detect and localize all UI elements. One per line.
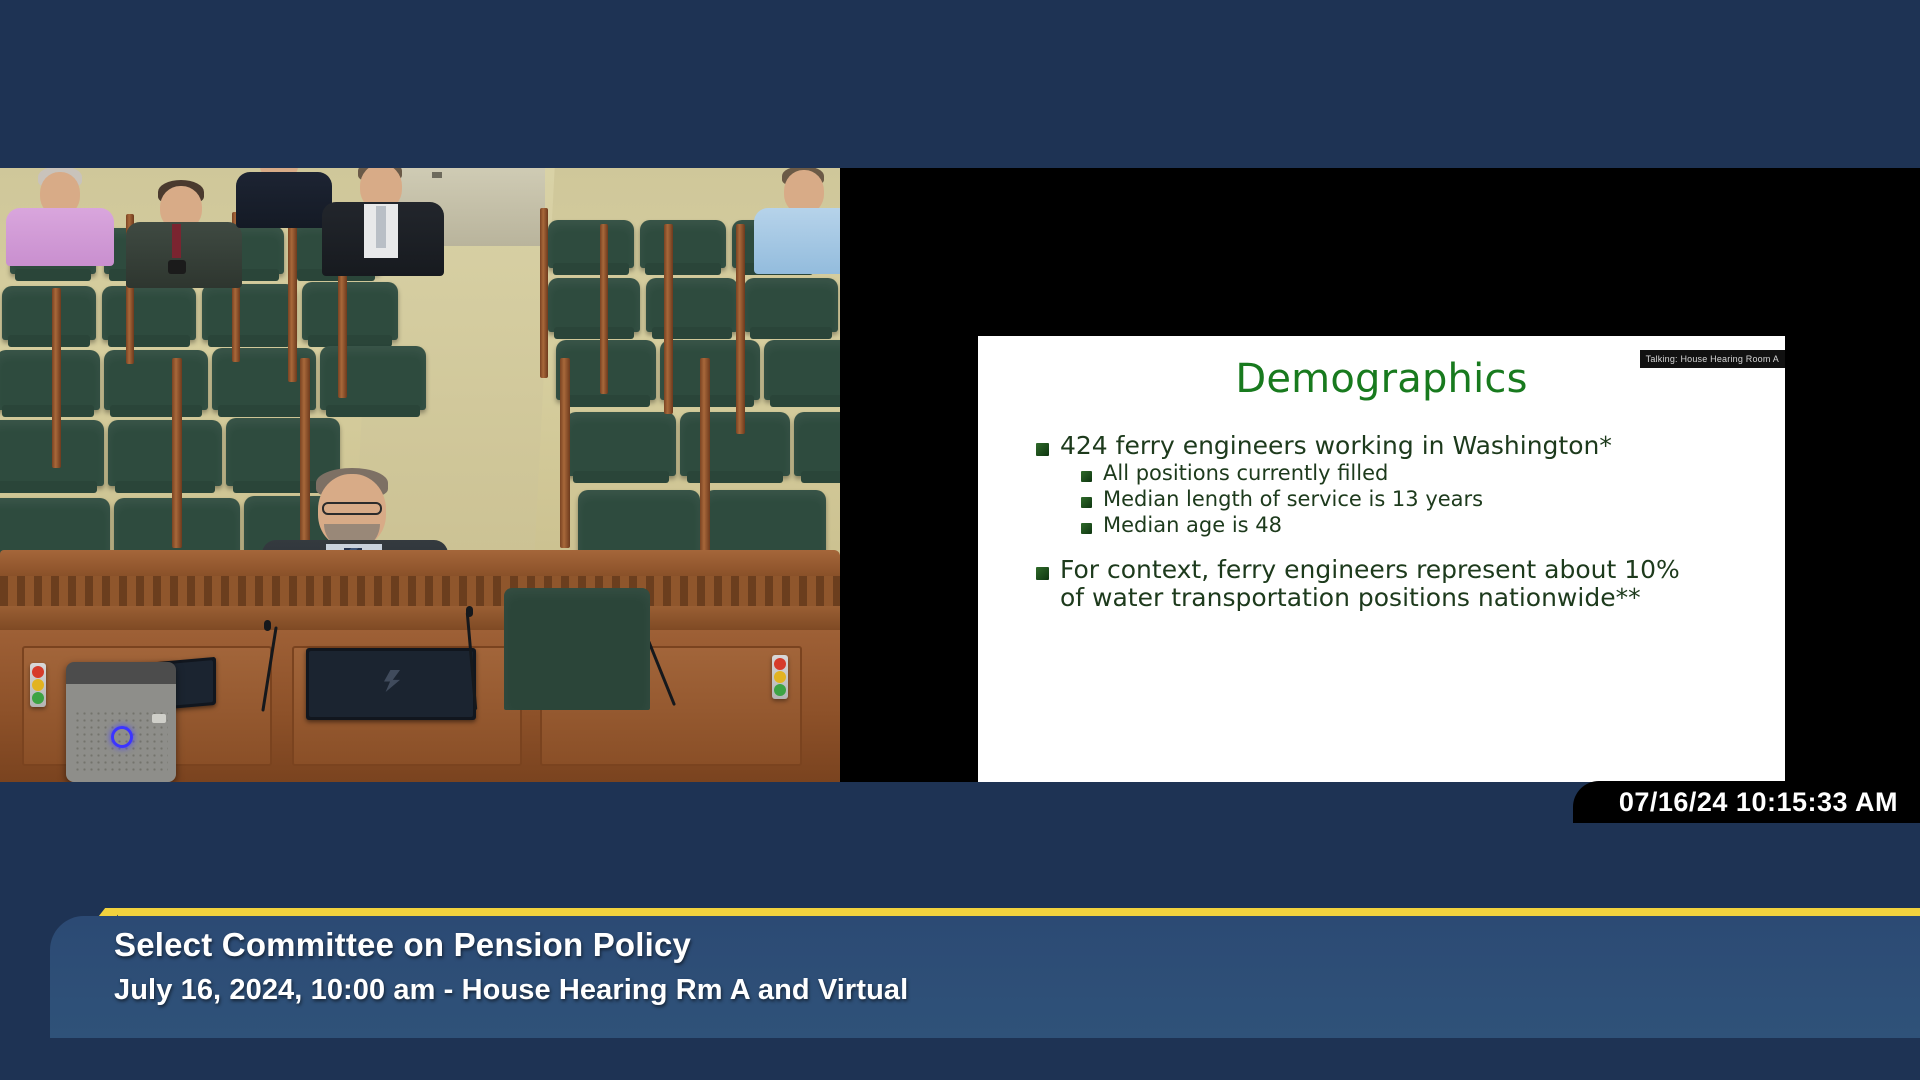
accent-rule <box>118 908 1920 916</box>
chair-post <box>736 224 745 434</box>
seat <box>108 420 222 486</box>
bullet-item: All positions currently filled <box>1081 462 1755 486</box>
air-purifier-badge <box>152 714 166 723</box>
microphone-head <box>264 620 271 631</box>
necktie <box>376 206 386 248</box>
air-purifier-indicator <box>111 726 133 748</box>
bullet-square-icon <box>1036 567 1049 580</box>
audience-person <box>6 172 116 258</box>
chair-post <box>52 288 61 468</box>
slide-bullet-list: 424 ferry engineers working in Washingto… <box>1036 432 1755 614</box>
laptop-center <box>306 648 476 720</box>
podium-dentil-molding <box>0 576 840 606</box>
bullet-text: Median length of service is 13 years <box>1103 488 1483 512</box>
slide-title: Demographics <box>978 356 1785 402</box>
seat <box>680 412 790 476</box>
empty-chair-foreground <box>504 588 650 710</box>
bullet-item: For context, ferry engineers represent a… <box>1036 556 1755 612</box>
necktie <box>172 224 181 258</box>
audience-person <box>128 182 248 278</box>
seat <box>320 346 426 410</box>
seat <box>302 282 398 340</box>
lower-banner-band: 07/16/24 10:15:33 AM Select Committee on… <box>0 782 1920 1080</box>
speaker-timer-right <box>772 655 788 699</box>
air-purifier <box>66 662 176 782</box>
seat <box>548 220 634 268</box>
seat <box>744 278 838 332</box>
audience-person <box>326 168 450 274</box>
chair-post <box>288 212 297 382</box>
seat <box>640 220 726 268</box>
podium-countertop <box>0 550 840 576</box>
seat <box>0 350 100 410</box>
broadcast-stage: Talking: House Hearing Room A Demographi… <box>0 0 1920 1080</box>
bullet-item: Median length of service is 13 years <box>1081 488 1755 512</box>
bullet-square-icon <box>1081 497 1092 508</box>
eyeglasses <box>322 502 382 515</box>
seat <box>794 412 840 476</box>
seat <box>104 350 208 410</box>
bullet-text: Median age is 48 <box>1103 514 1282 538</box>
phone <box>168 260 186 274</box>
seat <box>660 340 760 400</box>
bullet-square-icon <box>1036 443 1049 456</box>
seat <box>548 278 640 332</box>
program-banner: Select Committee on Pension Policy July … <box>50 916 1920 1038</box>
seat <box>2 286 96 340</box>
bullet-text: 424 ferry engineers working in Washingto… <box>1060 432 1612 460</box>
seat <box>102 286 196 340</box>
chair-post <box>172 358 182 548</box>
clock-badge: 07/16/24 10:15:33 AM <box>1573 781 1920 823</box>
banner-subtitle: July 16, 2024, 10:00 am - House Hearing … <box>114 974 908 1007</box>
bullet-text: For context, ferry engineers represent a… <box>1060 556 1700 612</box>
seat <box>646 278 738 332</box>
chair-post <box>560 358 570 548</box>
bullet-square-icon <box>1081 523 1092 534</box>
audience-person <box>756 172 840 268</box>
chair-post <box>600 224 608 394</box>
bullet-text: All positions currently filled <box>1103 462 1388 486</box>
banner-title: Select Committee on Pension Policy <box>114 926 691 964</box>
bullet-item: 424 ferry engineers working in Washingto… <box>1036 432 1755 460</box>
seat <box>202 284 296 340</box>
seat <box>566 412 676 476</box>
microphone-head <box>466 606 473 617</box>
chair-post <box>540 208 548 378</box>
chair-post <box>700 358 710 558</box>
top-letterbox <box>0 0 1920 168</box>
seat <box>764 340 840 400</box>
video-panel[interactable] <box>0 168 840 782</box>
bullet-item: Median age is 48 <box>1081 514 1755 538</box>
speaker-timer-left <box>30 663 46 707</box>
audience-person <box>236 168 336 234</box>
bullet-square-icon <box>1081 471 1092 482</box>
content-band: Talking: House Hearing Room A Demographi… <box>0 168 1920 782</box>
podium-rail <box>0 606 840 630</box>
clock-text: 07/16/24 10:15:33 AM <box>1619 787 1898 818</box>
chair-post <box>664 224 673 414</box>
